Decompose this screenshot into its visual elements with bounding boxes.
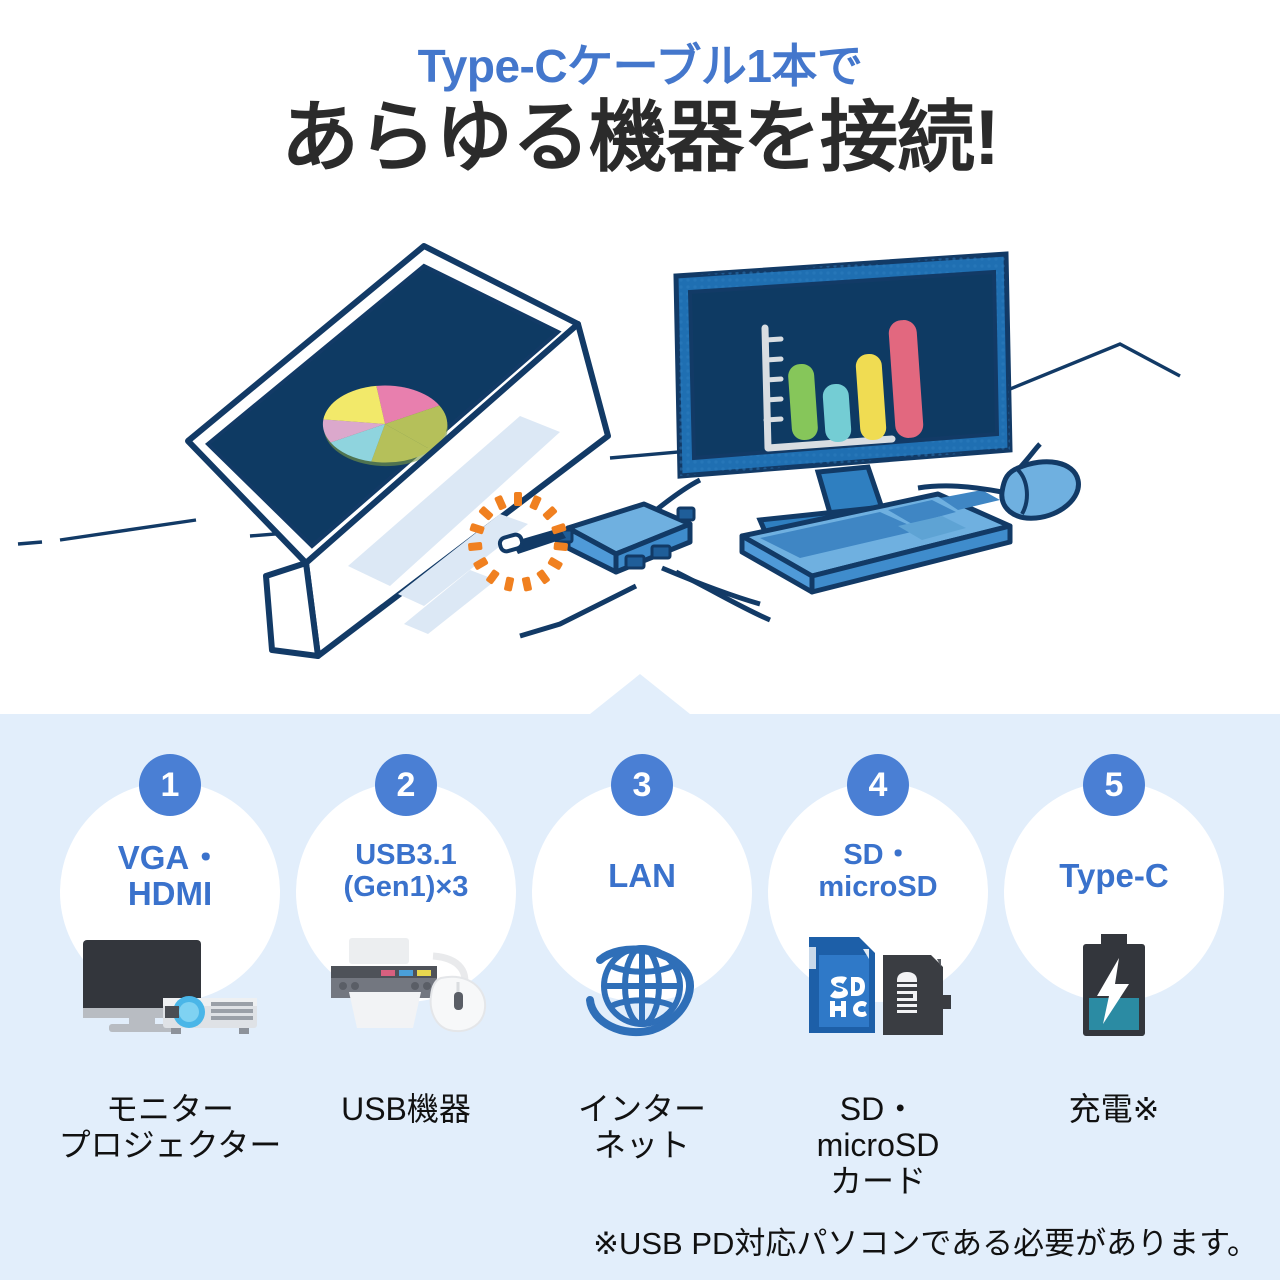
feature-title-line: Type-C [986,858,1242,894]
feature-title-line: USB3.1 [278,840,534,872]
feature-item-sd[interactable]: 4 SD・ microSD [750,754,1006,1084]
feature-title-line: (Gen1)×3 [278,872,534,904]
sd-microsd-card-icon [750,932,1006,1040]
feature-label-line: カード [750,1164,1006,1200]
feature-item-lan[interactable]: 3 LAN インター ネ [514,754,770,1084]
feature-item-vga-hdmi[interactable]: 1 VGA・ HDMI [42,754,298,1084]
feature-title: Type-C [986,858,1242,894]
features-row: 1 VGA・ HDMI [0,754,1280,1084]
feature-title: USB3.1 (Gen1)×3 [278,840,534,904]
feature-label-line: 充電※ [986,1092,1242,1128]
headline-subtitle: Type-Cケーブル1本で [0,42,1280,90]
feature-title: SD・ microSD [750,840,1006,904]
feature-label: モニター プロジェクター [42,1092,298,1164]
desk-setup-illustration [0,236,1280,706]
feature-item-usb[interactable]: 2 USB3.1 (Gen1)×3 [278,754,534,1084]
feature-label-line: SD・ [750,1092,1006,1128]
feature-number-badge: 3 [611,754,673,816]
battery-charging-icon [986,932,1242,1040]
infographic-page: Type-Cケーブル1本で あらゆる機器を接続! [0,0,1280,1280]
globe-icon [514,932,770,1040]
feature-label: SD・ microSD カード [750,1092,1006,1199]
feature-label: USB機器 [278,1092,534,1128]
printer-mouse-icon [278,932,534,1040]
feature-label-line: インター [514,1092,770,1128]
feature-title-line: HDMI [42,876,298,912]
feature-number-badge: 5 [1083,754,1145,816]
headline-title: あらゆる機器を接続! [0,94,1280,181]
external-monitor [676,254,1010,534]
feature-label-line: microSD [750,1128,1006,1164]
feature-label-line: プロジェクター [42,1128,298,1164]
feature-label-line: USB機器 [278,1092,534,1128]
feature-label: 充電※ [986,1092,1242,1128]
keyboard [742,490,1010,592]
usb-c-docking-station [556,504,694,572]
feature-number-badge: 2 [375,754,437,816]
laptop [188,246,608,656]
feature-title: LAN [514,858,770,894]
feature-number-badge: 1 [139,754,201,816]
feature-number-badge: 4 [847,754,909,816]
feature-title-line: SD・ [750,840,1006,872]
feature-title-line: microSD [750,872,1006,904]
feature-title-line: VGA・ [42,840,298,876]
footnote-text: ※USB PD対応パソコンである必要があります。 [593,1225,1258,1262]
monitor-projector-icon [42,932,298,1040]
headline-block: Type-Cケーブル1本で あらゆる機器を接続! [0,42,1280,182]
feature-label: インター ネット [514,1092,770,1164]
feature-item-type-c[interactable]: 5 Type-C 充電※ [986,754,1242,1084]
feature-label-line: ネット [514,1128,770,1164]
feature-title-line: LAN [514,858,770,894]
feature-label-line: モニター [42,1092,298,1128]
panel-pointer-notch [590,674,690,714]
feature-title: VGA・ HDMI [42,840,298,913]
